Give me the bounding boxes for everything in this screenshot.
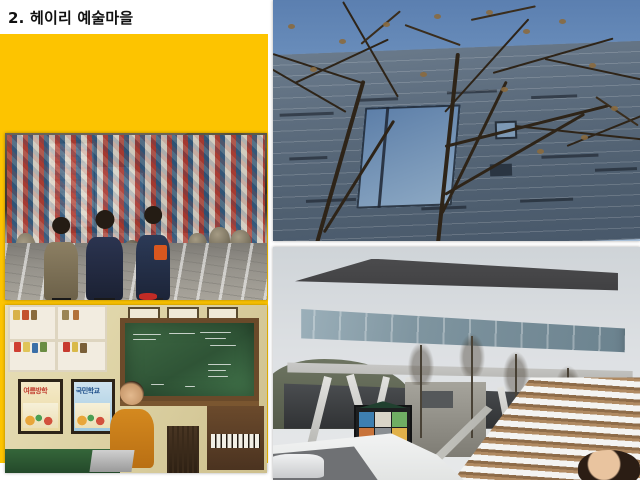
poster-title-text: 국민학교 [76, 386, 100, 396]
book [13, 310, 20, 320]
poster-summer-vacation: 여름방학 [18, 379, 63, 434]
book [63, 342, 70, 352]
poster-elementary-school: 국민학교 [71, 379, 116, 434]
photo-concrete-building [273, 0, 640, 241]
wall-vent [420, 391, 453, 407]
piano [207, 406, 265, 470]
page-title: 2. 헤이리 예술마을 [8, 7, 133, 28]
red-shoe [139, 293, 157, 300]
bookshelf [8, 305, 108, 372]
tree-icon [420, 345, 422, 438]
book [22, 310, 29, 320]
poster-title-text: 여름방학 [23, 386, 47, 396]
book [14, 342, 21, 352]
book [32, 343, 39, 353]
visitor-figure [44, 217, 78, 301]
book [72, 342, 79, 352]
book [31, 310, 38, 320]
book [73, 310, 80, 320]
book [62, 310, 69, 320]
book [40, 342, 47, 352]
photo-museum-building [273, 247, 640, 480]
visitor-figure [86, 210, 123, 300]
poster-artwork [23, 403, 58, 429]
classroom-chair [167, 426, 198, 473]
orange-bag [154, 245, 167, 260]
photo-classroom: 여름방학 국민학교 [5, 305, 267, 473]
photo-street-scene [5, 133, 267, 300]
slide-title-bar: 2. 헤이리 예술마을 [0, 0, 268, 34]
piano-keys [211, 434, 259, 448]
presentation-slide: 2. 헤이리 예술마을 [0, 0, 640, 480]
foreground-person-head [578, 450, 640, 480]
poster-artwork [75, 403, 110, 429]
book [23, 342, 30, 352]
laptop [90, 450, 135, 472]
parked-car [273, 454, 324, 477]
book [80, 343, 87, 353]
